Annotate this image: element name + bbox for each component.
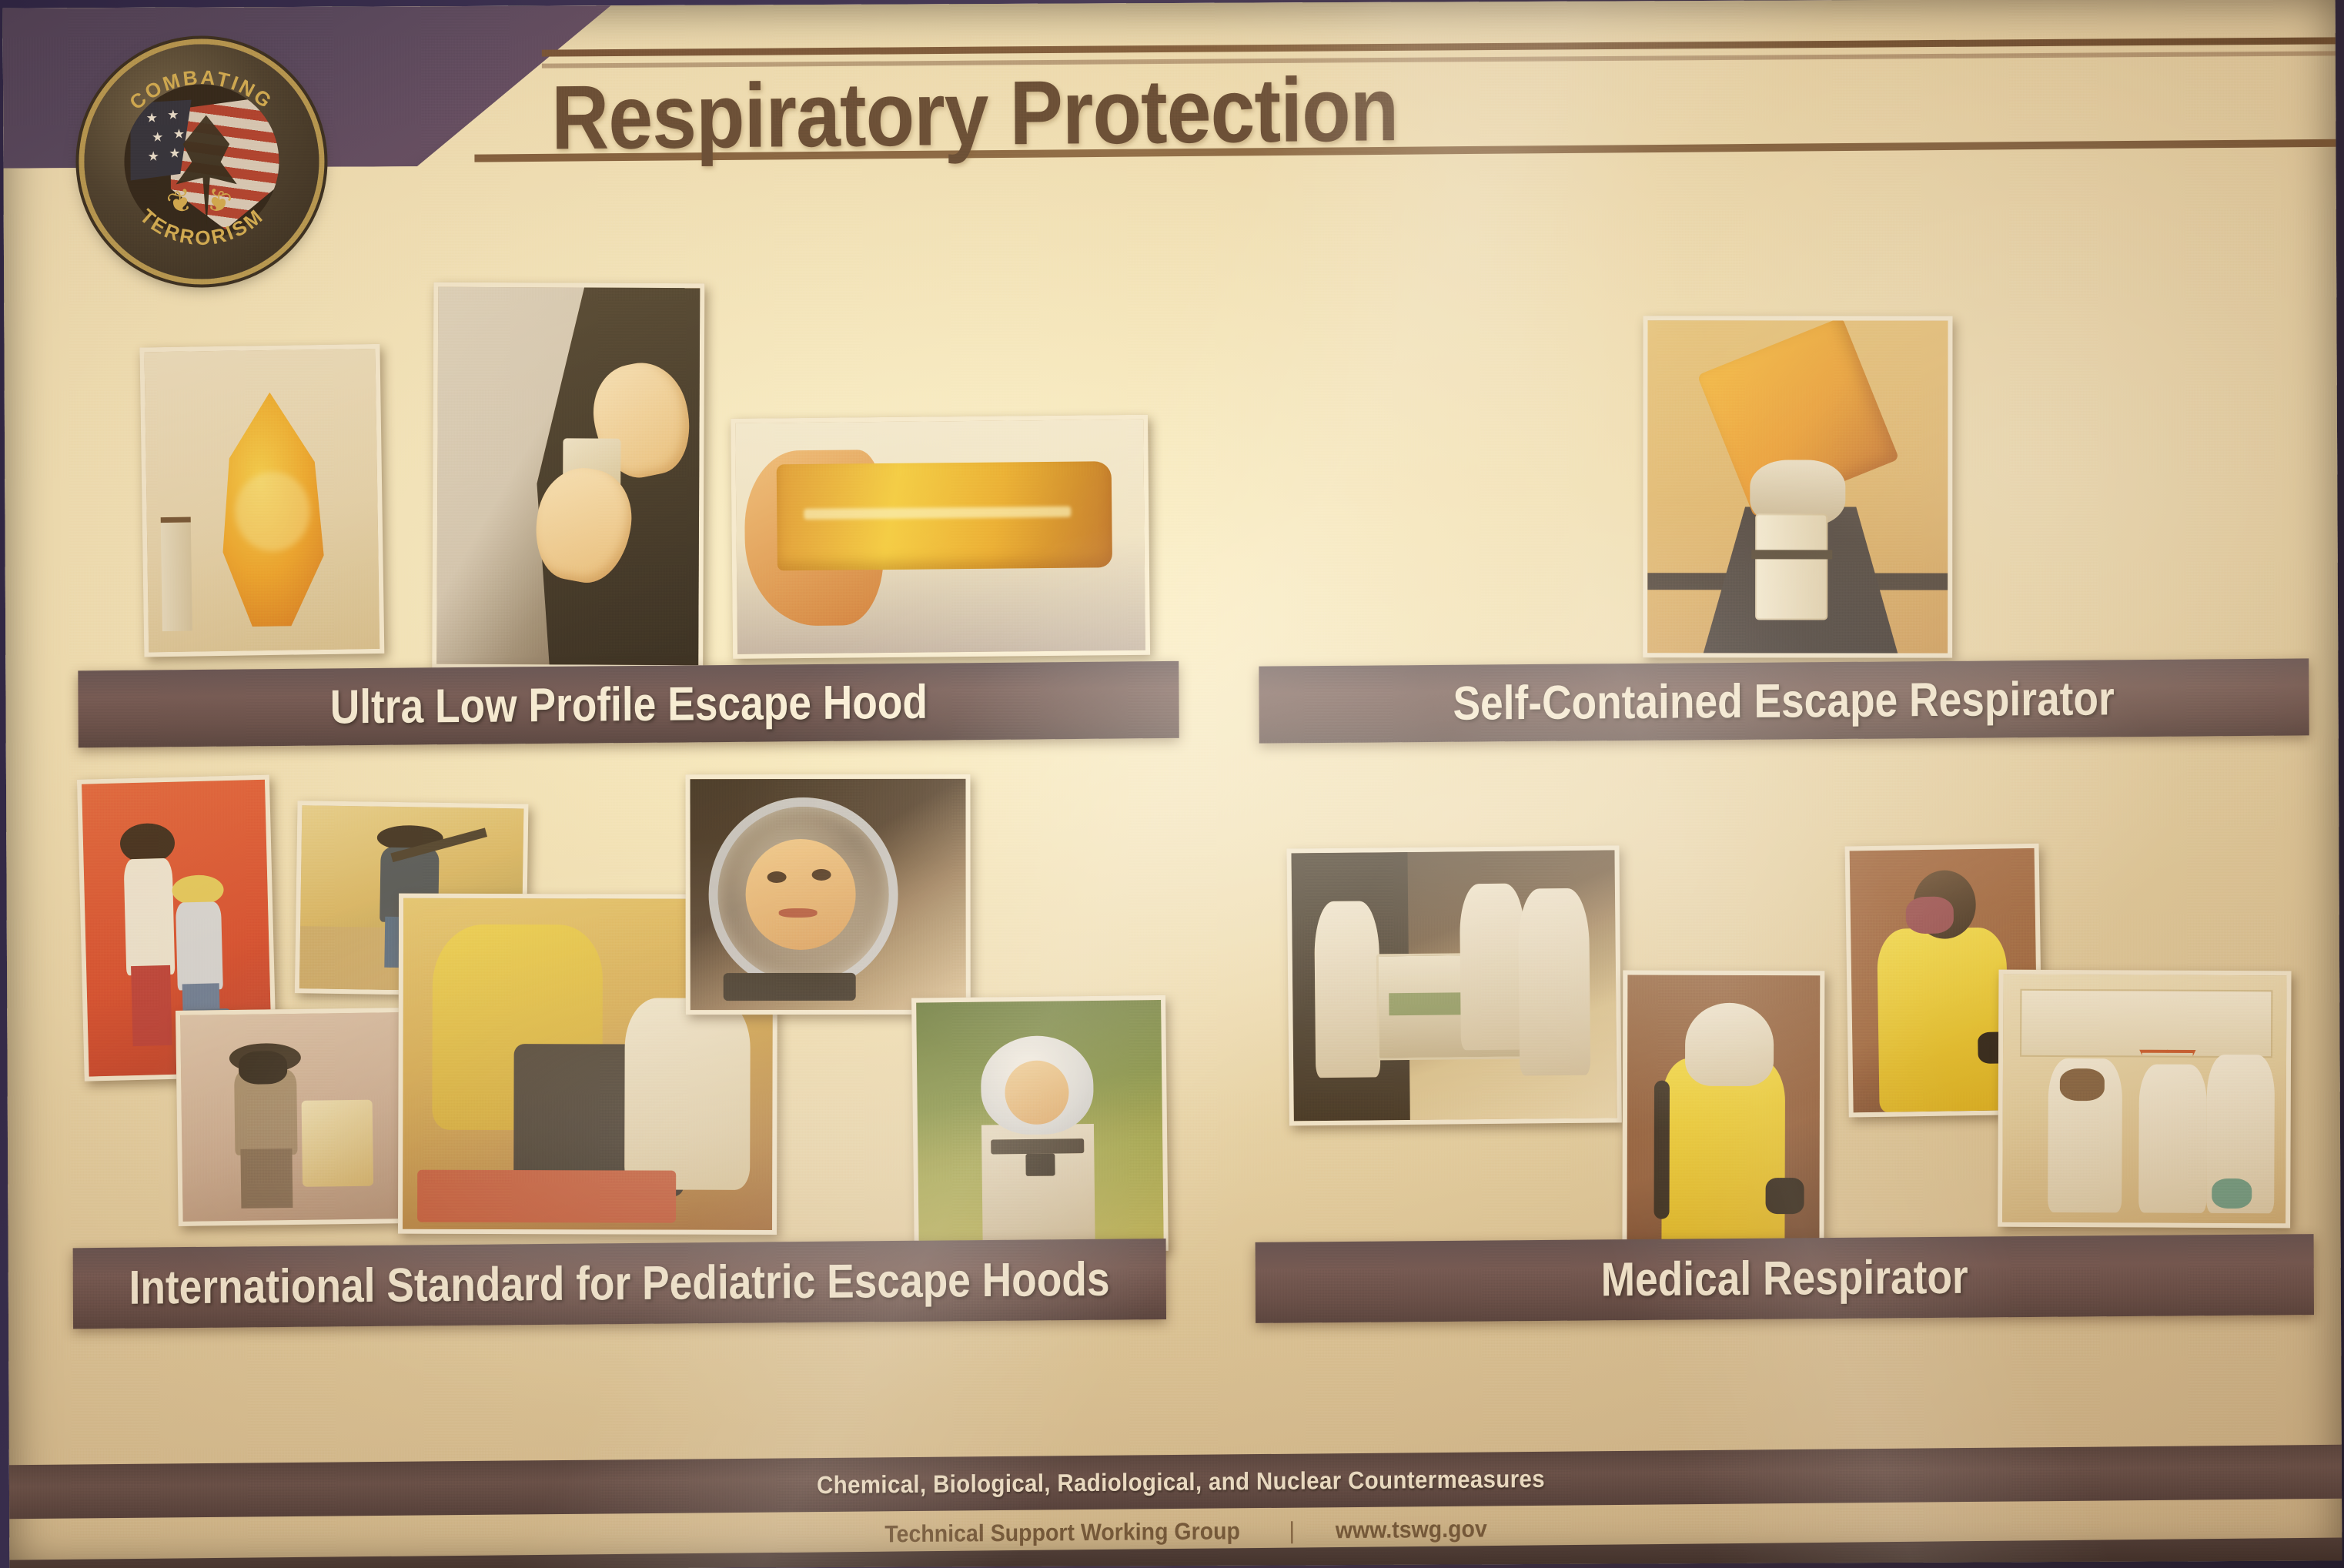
yellow-suit-shape bbox=[1877, 927, 2009, 1112]
powered-hood-shape bbox=[1685, 1003, 1774, 1086]
half-face-respirator-shape bbox=[1906, 897, 1954, 934]
svg-text:TERRORISM: TERRORISM bbox=[135, 204, 269, 250]
photo-yellow-suit-with-hood-and-hose bbox=[1622, 971, 1824, 1258]
seal-bottom-text: TERRORISM bbox=[135, 204, 269, 250]
mat-shape bbox=[417, 1169, 676, 1223]
photo-donned-escape-respirator bbox=[1643, 316, 1952, 657]
harness-buckle bbox=[1025, 1154, 1055, 1176]
chest-canister-shape bbox=[1756, 513, 1828, 620]
caption-bar-international-standard-for-pediatric-escape-hoods: International Standard for Pediatric Esc… bbox=[73, 1239, 1166, 1329]
plastic-sheen-overlay bbox=[3, 0, 2342, 1568]
photo-grain-overlay bbox=[3, 0, 2342, 1568]
photo-hands-belt-pouch bbox=[432, 283, 704, 670]
infant-eye-right bbox=[811, 869, 831, 881]
page-title: Respiratory Protection bbox=[551, 57, 1399, 170]
caption-text: Medical Respirator bbox=[1601, 1250, 1968, 1308]
seal-ring-text: COMBATING TERRORISM bbox=[84, 44, 319, 279]
hood-collar-shape bbox=[724, 973, 856, 1001]
photo-child-wearing-hood-outdoors bbox=[911, 995, 1169, 1254]
caption-bar-ultra-low-profile-escape-hood: Ultra Low Profile Escape Hood bbox=[78, 661, 1179, 747]
caption-text: Ultra Low Profile Escape Hood bbox=[329, 674, 928, 734]
seal-top-text: COMBATING bbox=[125, 65, 278, 115]
breathing-hose-shape bbox=[1654, 1080, 1670, 1219]
combating-terrorism-seal: ★ ★ ★ ★ ★ ★ ❦ ❦ COMBATING bbox=[84, 44, 319, 279]
adult-figure-shape bbox=[119, 823, 180, 1047]
footer-program-line: Chemical, Biological, Radiological, and … bbox=[817, 1464, 1545, 1499]
child-shape bbox=[624, 998, 751, 1190]
white-suit-shape-2 bbox=[2138, 1064, 2207, 1213]
canister-shape bbox=[161, 517, 192, 631]
svg-text:COMBATING: COMBATING bbox=[125, 65, 278, 115]
caption-bar-self-contained-escape-respirator: Self-Contained Escape Respirator bbox=[1259, 658, 2309, 743]
footer-website: www.tswg.gov bbox=[1336, 1515, 1487, 1544]
gas-mask-shape bbox=[239, 1051, 288, 1085]
escape-hood-kit-shape bbox=[301, 1099, 373, 1187]
packed-hood-shape bbox=[777, 461, 1112, 570]
photo-ambulance-gurney-transfer bbox=[1286, 845, 1621, 1125]
photo-hood-on-stand bbox=[139, 344, 384, 657]
glove-shape bbox=[1766, 1178, 1804, 1214]
photo-packed-hood-in-hand bbox=[731, 415, 1150, 659]
poster-photograph: ★ ★ ★ ★ ★ ★ ❦ ❦ COMBATING bbox=[0, 0, 2344, 1568]
caption-text: Self-Contained Escape Respirator bbox=[1453, 671, 2115, 731]
teal-equipment-shape bbox=[2212, 1179, 2252, 1209]
respirator-mask-shape bbox=[2059, 1068, 2105, 1101]
infant-face-shape bbox=[745, 839, 855, 950]
warm-color-cast-overlay bbox=[3, 0, 2342, 1568]
escape-hood-shape bbox=[205, 391, 337, 627]
caption-bar-medical-respirator: Medical Respirator bbox=[1256, 1234, 2314, 1323]
photo-infant-in-hood-bubble bbox=[685, 774, 970, 1015]
infant-mouth bbox=[778, 908, 817, 918]
chest-harness-strap bbox=[991, 1138, 1085, 1155]
footer-organization: Technical Support Working Group bbox=[884, 1517, 1240, 1548]
poster-board: ★ ★ ★ ★ ★ ★ ❦ ❦ COMBATING bbox=[3, 0, 2342, 1568]
photo-person-with-gas-mask-and-kit bbox=[176, 1008, 410, 1226]
caption-text: International Standard for Pediatric Esc… bbox=[129, 1252, 1110, 1316]
responder-shape-3 bbox=[1518, 888, 1591, 1075]
responder-shape-1 bbox=[1314, 901, 1380, 1078]
responder-shape-2 bbox=[1460, 883, 1526, 1050]
wall-banner-shape bbox=[2020, 989, 2272, 1058]
photo-team-in-white-suits bbox=[1998, 970, 2291, 1229]
yellow-suit-shape bbox=[1661, 1058, 1785, 1252]
footer-separator: | bbox=[1289, 1517, 1296, 1545]
